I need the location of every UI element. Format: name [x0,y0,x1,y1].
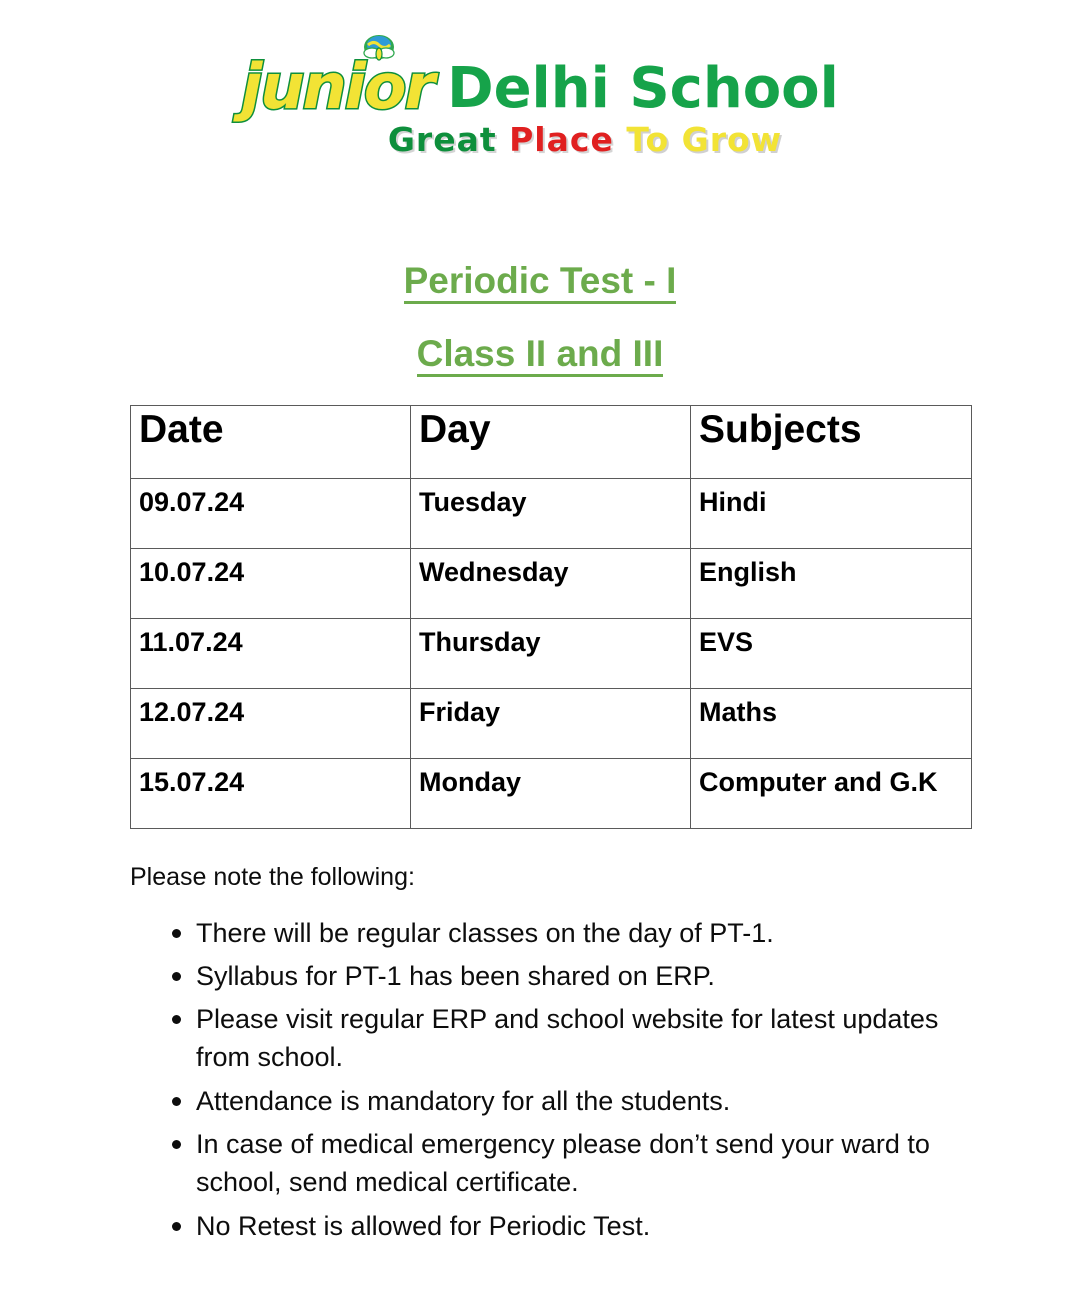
cell-subject: English [691,549,972,619]
notes-section: Please note the following: There will be… [130,864,960,1250]
cell-day: Wednesday [411,549,691,619]
cell-date: 10.07.24 [131,549,411,619]
table-header-row: Date Day Subjects [131,406,972,479]
cell-day: Monday [411,759,691,829]
page-title-line-1-wrap: Periodic Test - I [0,262,1080,304]
list-item: There will be regular classes on the day… [130,914,960,952]
list-item-text: In case of medical emergency please don’… [196,1129,930,1197]
table-row: 09.07.24 Tuesday Hindi [131,479,972,549]
column-header-date: Date [131,406,411,479]
document-title-block: Periodic Test - I Class II and III [0,262,1080,377]
cell-subject: Maths [691,689,972,759]
cell-subject: Computer and G.K [691,759,972,829]
cell-day: Friday [411,689,691,759]
table-row: 12.07.24 Friday Maths [131,689,972,759]
bullet-icon [172,1140,181,1149]
list-item-text: Attendance is mandatory for all the stud… [196,1086,730,1116]
cell-date: 15.07.24 [131,759,411,829]
exam-schedule-table: Date Day Subjects 09.07.24 Tuesday Hindi… [130,405,972,829]
cell-date: 11.07.24 [131,619,411,689]
cell-date: 12.07.24 [131,689,411,759]
column-header-subjects: Subjects [691,406,972,479]
cell-day: Thursday [411,619,691,689]
list-item: Please visit regular ERP and school webs… [130,1000,960,1077]
bullet-icon [172,1015,181,1024]
list-item-text: Please visit regular ERP and school webs… [196,1004,938,1072]
tagline-part-place: Place [509,120,614,159]
list-item: Attendance is mandatory for all the stud… [130,1082,960,1120]
page-subtitle: Class II and III [417,335,664,377]
tagline-part-great: Great [388,120,497,159]
list-item: In case of medical emergency please don’… [130,1125,960,1202]
notes-list: There will be regular classes on the day… [130,914,960,1246]
cell-day: Tuesday [411,479,691,549]
column-header-day: Day [411,406,691,479]
tagline-part-to-grow: To Grow [626,120,782,159]
bullet-icon [172,1097,181,1106]
list-item-text: Syllabus for PT-1 has been shared on ERP… [196,961,715,991]
cell-date: 09.07.24 [131,479,411,549]
notes-lead-text: Please note the following: [130,864,960,892]
table-row: 10.07.24 Wednesday English [131,549,972,619]
list-item: No Retest is allowed for Periodic Test. [130,1207,960,1245]
table-row: 11.07.24 Thursday EVS [131,619,972,689]
list-item: Syllabus for PT-1 has been shared on ERP… [130,957,960,995]
cell-subject: EVS [691,619,972,689]
logo-word-delhi-school: Delhi School [447,61,839,117]
list-item-text: No Retest is allowed for Periodic Test. [196,1211,650,1241]
bee-globe-mascot-icon [359,34,399,68]
logo-tagline: Great Place To Grow [241,123,839,156]
bullet-icon [172,972,181,981]
page-subtitle-line-2-wrap: Class II and III [0,335,1080,377]
bullet-icon [172,1222,181,1231]
school-logo: junior Delhi School Great Place To Grow [241,58,839,156]
logo-wordmark-row: junior Delhi School [241,58,839,117]
school-letterhead: junior Delhi School Great Place To Grow [0,58,1080,198]
page-title: Periodic Test - I [404,262,677,304]
cell-subject: Hindi [691,479,972,549]
table-row: 15.07.24 Monday Computer and G.K [131,759,972,829]
list-item-text: There will be regular classes on the day… [196,918,774,948]
logo-word-junior: junior [241,58,433,117]
bullet-icon [172,929,181,938]
